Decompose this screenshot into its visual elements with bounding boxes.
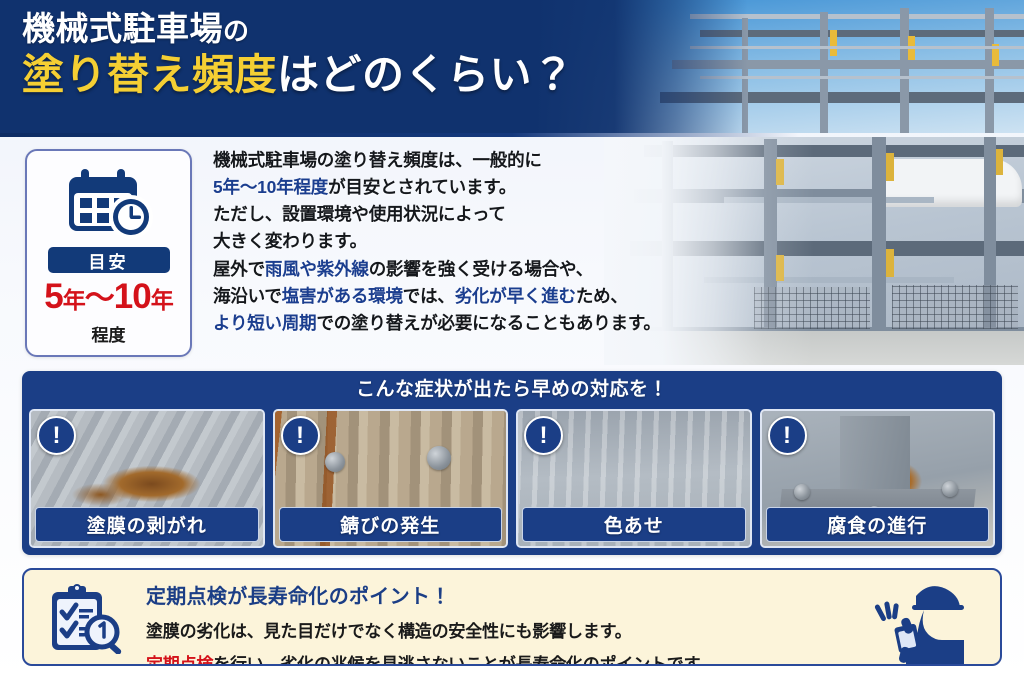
symptom-card-2[interactable]: !錆びの発生 <box>273 409 509 548</box>
symptom-card-4[interactable]: !腐食の進行 <box>760 409 996 548</box>
years-value-1: 5 <box>44 277 62 316</box>
inspector-worker-icon <box>858 576 978 664</box>
inspection-note-panel: 定期点検が長寿命化のポイント！ 塗膜の劣化は、見た目だけでなく構造の安全性にも影… <box>22 568 1002 666</box>
symptom-label: 錆びの発生 <box>279 507 503 542</box>
symptom-label: 腐食の進行 <box>766 507 990 542</box>
note-line-2-rest: を行い、劣化の兆候を見逃さないことが長寿命化のポイントです。 <box>213 655 715 666</box>
clipboard-check-magnifier-icon <box>46 584 130 654</box>
badge-label: 目安 <box>89 248 129 273</box>
bolt-detail <box>325 452 345 472</box>
note-line-2: 定期点検を行い、劣化の兆候を見逃さないことが長寿命化のポイントです。 <box>146 650 846 666</box>
guideline-approx-label: 程度 <box>92 321 126 346</box>
intro-section: 目安 5年〜10年 程度 機械式駐車場の塗り替え頻度は、一般的に5年〜10年程度… <box>0 137 1024 365</box>
column-detail <box>840 416 909 500</box>
intro-paragraph: 機械式駐車場の塗り替え頻度は、一般的に5年〜10年程度が目安とされています。ただ… <box>213 147 733 337</box>
symptom-card-3[interactable]: !色あせ <box>516 409 752 548</box>
header-underline <box>0 133 1024 137</box>
intro-emphasis: 劣化が早く進む <box>455 286 576 306</box>
intro-line-2: 5年〜10年程度が目安とされています。 <box>213 174 733 201</box>
warning-exclamation-icon: ! <box>37 416 76 455</box>
symptoms-panel: こんな症状が出たら早めの対応を！ !塗膜の剥がれ!錆びの発生!色あせ!腐食の進行 <box>22 371 1002 555</box>
intro-text-run: 屋外で <box>213 259 265 279</box>
intro-text-run: 大きく変わります。 <box>213 231 367 251</box>
intro-line-6: 海沿いで塩害がある環境では、劣化が早く進むため、 <box>213 283 733 310</box>
symptoms-card-list: !塗膜の剥がれ!錆びの発生!色あせ!腐食の進行 <box>22 404 1002 555</box>
warning-exclamation-icon: ! <box>524 416 563 455</box>
note-text-block: 定期点検が長寿命化のポイント！ 塗膜の劣化は、見た目だけでなく構造の安全性にも影… <box>146 580 846 666</box>
calendar-clock-icon <box>61 165 157 241</box>
intro-text-run: 機械式駐車場の塗り替え頻度は、一般的に <box>213 150 542 170</box>
intro-line-4: 大きく変わります。 <box>213 228 733 255</box>
years-value-2: 10 <box>114 277 151 316</box>
note-line-1: 塗膜の劣化は、見た目だけでなく構造の安全性にも影響します。 <box>146 617 846 642</box>
warning-exclamation-icon: ! <box>768 416 807 455</box>
years-range-tilde: 〜 <box>85 282 114 315</box>
title-line2-highlight: 塗り替え頻度 <box>22 51 277 98</box>
intro-emphasis: 5年〜10年程度 <box>213 177 328 197</box>
intro-emphasis: 塩害がある環境 <box>282 286 403 306</box>
intro-text-run: 海沿いで <box>213 286 282 306</box>
symptom-label: 塗膜の剥がれ <box>35 507 259 542</box>
intro-text-run: の影響を強く受ける場合や、 <box>369 259 593 279</box>
intro-line-5: 屋外で雨風や紫外線の影響を強く受ける場合や、 <box>213 256 733 283</box>
symptoms-heading: こんな症状が出たら早めの対応を！ <box>22 371 1002 404</box>
header-banner: 機械式駐車場の 塗り替え頻度はどのくらい？ <box>0 0 1024 133</box>
intro-text-run: ため、 <box>576 286 628 306</box>
intro-text-run: ただし、設置環境や使用状況によって <box>213 204 506 224</box>
status-badge-meyasu: 目安 <box>48 247 170 273</box>
guideline-years-value: 5年〜10年 <box>44 279 172 314</box>
infographic-page: 機械式駐車場の 塗り替え頻度はどのくらい？ <box>0 0 1024 683</box>
note-heading: 定期点検が長寿命化のポイント！ <box>146 580 846 609</box>
intro-text-run: では、 <box>403 286 455 306</box>
page-title: 機械式駐車場の 塗り替え頻度はどのくらい？ <box>22 12 575 96</box>
intro-line-7: より短い周期での塗り替えが必要になることもあります。 <box>213 310 733 337</box>
intro-emphasis: より短い周期 <box>213 313 316 333</box>
guideline-stat-card: 目安 5年〜10年 程度 <box>25 149 192 357</box>
symptom-card-1[interactable]: !塗膜の剥がれ <box>29 409 265 548</box>
bolt-detail <box>794 484 810 500</box>
years-unit-1: 年 <box>63 287 85 313</box>
title-line2-rest: はどのくらい？ <box>277 51 575 98</box>
symptom-label: 色あせ <box>522 507 746 542</box>
years-unit-2: 年 <box>151 287 173 313</box>
note-line-2-red: 定期点検 <box>146 655 213 666</box>
title-line1-main: 機械式駐車場 <box>22 10 223 47</box>
intro-text-run: が目安とされています。 <box>328 177 516 197</box>
intro-text-run: での塗り替えが必要になることもあります。 <box>316 313 660 333</box>
intro-emphasis: 雨風や紫外線 <box>265 259 369 279</box>
warning-exclamation-icon: ! <box>281 416 320 455</box>
bolt-detail <box>427 446 451 470</box>
intro-line-1: 機械式駐車場の塗り替え頻度は、一般的に <box>213 147 733 174</box>
intro-line-3: ただし、設置環境や使用状況によって <box>213 201 733 228</box>
title-line1-suffix: の <box>223 16 250 46</box>
